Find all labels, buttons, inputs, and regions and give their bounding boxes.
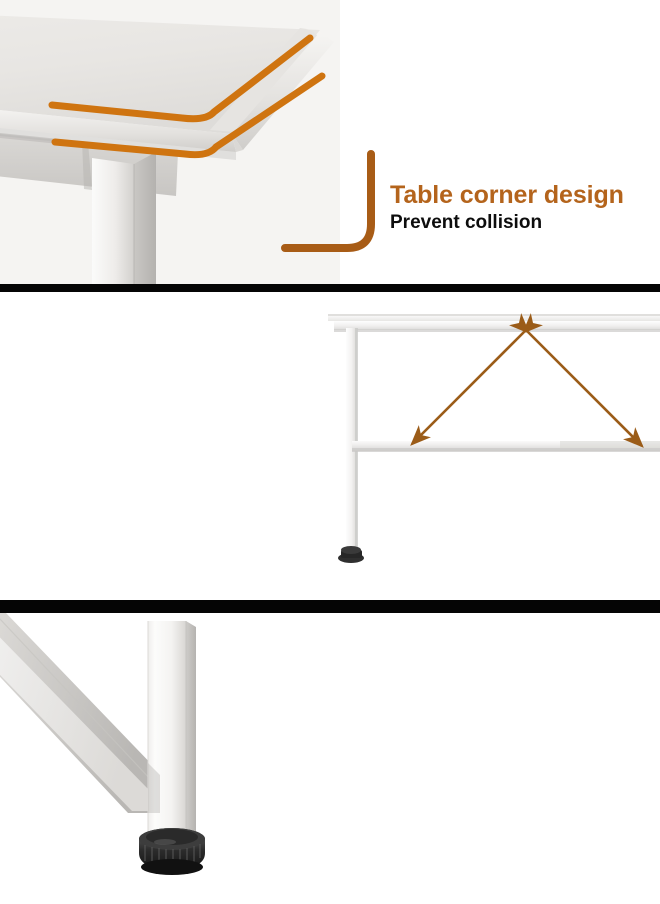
panel-table-corner: Table corner design Prevent collision: [0, 0, 660, 292]
panel-title-table-corner: Table corner design: [390, 182, 624, 209]
panel-divider-2: [0, 600, 660, 613]
panel-subtitle-table-corner: Prevent collision: [390, 212, 624, 233]
infographic-page: Table corner design Prevent collision: [0, 0, 660, 904]
corner-highlight-overlay: [0, 0, 340, 292]
structural-arrow-overlay: [324, 292, 660, 600]
caption-table-corner: Table corner design Prevent collision: [390, 182, 624, 233]
panel-enhanced-structural: Enhanced Structural heavy-duty metal des…: [0, 292, 660, 600]
leg-pad-photo: [0, 613, 340, 904]
panel-adjustable-leg-pads: Adjustable Leg Pads suitable for uneven …: [0, 613, 660, 904]
